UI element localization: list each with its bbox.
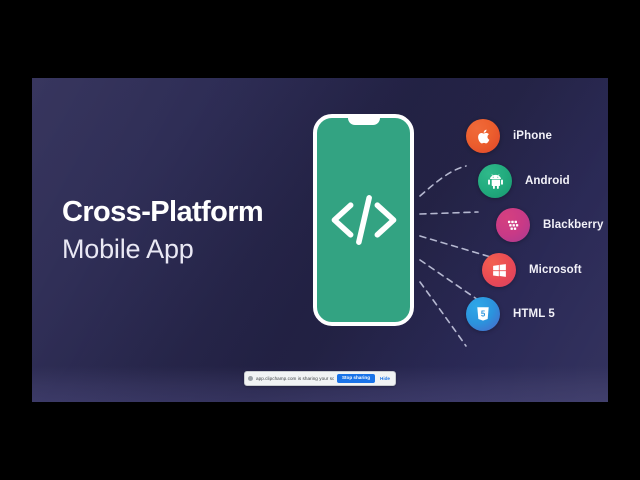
connector-android [420, 212, 478, 214]
connector-iphone [420, 166, 466, 196]
windows-icon [482, 253, 516, 287]
platform-label-android: Android [525, 175, 570, 187]
apple-icon [466, 119, 500, 153]
platform-item-html5: 5 HTML 5 [466, 296, 555, 332]
platform-item-blackberry: Blackberry [496, 207, 603, 243]
android-icon [478, 164, 512, 198]
svg-text:5: 5 [481, 310, 486, 319]
headline-primary: Cross-Platform [62, 196, 263, 228]
platform-item-android: Android [478, 163, 570, 199]
screen-share-notification-bar: app.clipchamp.com is sharing your screen… [244, 371, 396, 386]
platform-label-blackberry: Blackberry [543, 219, 603, 231]
smartphone-mockup [313, 114, 414, 326]
hide-link[interactable]: Hide [380, 376, 390, 381]
platform-item-iphone: iPhone [466, 118, 552, 154]
headline-secondary: Mobile App [62, 233, 263, 265]
phone-notch [348, 117, 380, 125]
connector-html5 [420, 282, 466, 346]
slide-canvas: Cross-Platform Mobile App [32, 78, 608, 402]
headline-block: Cross-Platform Mobile App [62, 196, 263, 266]
platform-item-microsoft: Microsoft [482, 252, 582, 288]
platform-label-iphone: iPhone [513, 130, 552, 142]
stop-sharing-button[interactable]: Stop sharing [337, 374, 375, 384]
platform-label-microsoft: Microsoft [529, 264, 582, 276]
video-player: Cross-Platform Mobile App [0, 0, 640, 480]
platform-label-html5: HTML 5 [513, 308, 555, 320]
share-message: app.clipchamp.com is sharing your screen [256, 376, 334, 381]
share-status-dot-icon [248, 376, 253, 381]
code-brackets-icon [327, 183, 401, 257]
html5-icon: 5 [466, 297, 500, 331]
blackberry-icon [496, 208, 530, 242]
